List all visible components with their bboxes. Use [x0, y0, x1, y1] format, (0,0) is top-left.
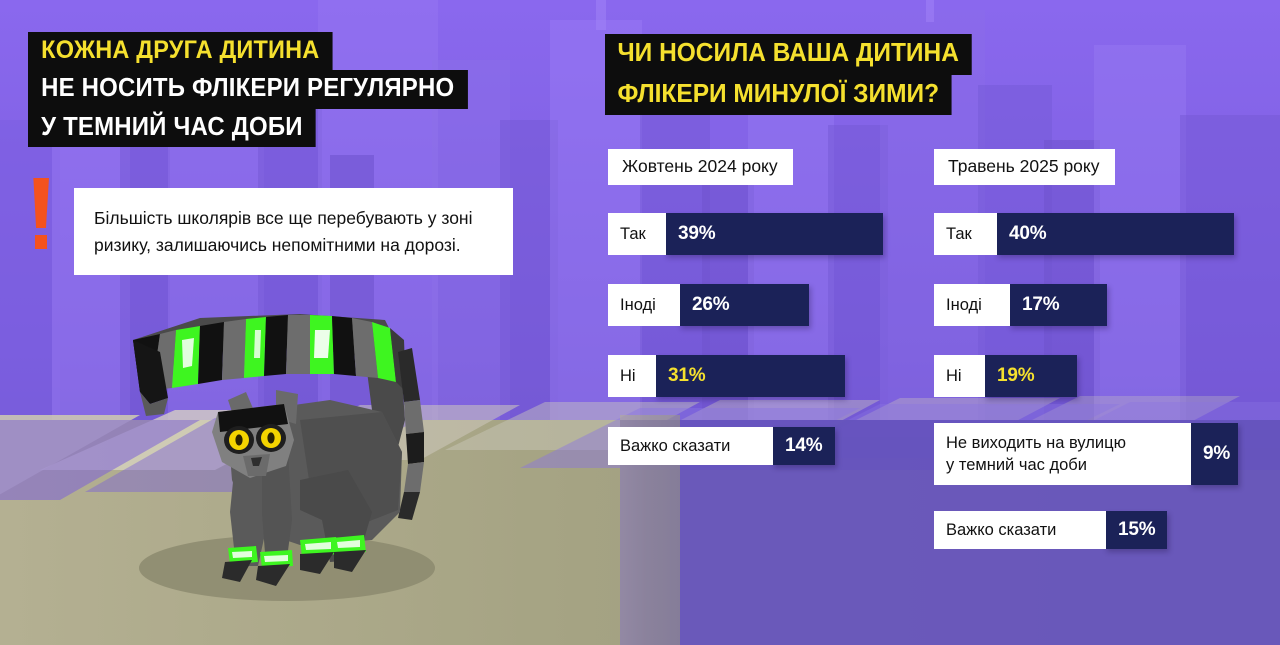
chart-column-october: Жовтень 2024 року Так39%Іноді26%Ні31%Важ…: [608, 149, 883, 465]
chart-row: Не виходить на вулицю у темний час доби9…: [934, 423, 1238, 485]
infographic-canvas: КОЖНА ДРУГА ДИТИНА НЕ НОСИТЬ ФЛІКЕРИ РЕГ…: [0, 0, 1280, 645]
chart-row-bar: 39%: [665, 213, 883, 255]
chart-row-value: 40%: [1009, 223, 1046, 245]
chart-row: Іноді26%: [608, 284, 883, 326]
chart-row-bar: 14%: [772, 427, 835, 465]
headline-line-3: У ТЕМНИЙ ЧАС ДОБИ: [28, 109, 316, 148]
question-line-2: ФЛІКЕРИ МИНУЛОЇ ЗИМИ?: [605, 75, 952, 116]
chart-row-label: Ні: [608, 355, 656, 397]
main-headline: КОЖНА ДРУГА ДИТИНА НЕ НОСИТЬ ФЛІКЕРИ РЕГ…: [28, 32, 496, 147]
exclamation-dot: [35, 235, 47, 249]
headline-line-2: НЕ НОСИТЬ ФЛІКЕРИ РЕГУЛЯРНО: [28, 70, 467, 109]
exclamation-icon: [32, 178, 49, 249]
chart-row: Так40%: [934, 213, 1238, 255]
chart-row-label: Іноді: [934, 284, 1010, 326]
chart-row-value: 26%: [692, 294, 729, 316]
chart-row-bar: 15%: [1105, 511, 1167, 549]
rows-may: Так40%Іноді17%Ні19%Не виходить на вулицю…: [934, 213, 1238, 549]
chart-row-bar: 19%: [984, 355, 1077, 397]
chart-row-label: Важко сказати: [934, 511, 1106, 549]
callout-text: Більшість школярів все ще перебувають у …: [94, 205, 493, 259]
column-title-may: Травень 2025 року: [934, 149, 1115, 185]
question-line-1: ЧИ НОСИЛА ВАША ДИТИНА: [605, 34, 971, 75]
column-title-october: Жовтень 2024 року: [608, 149, 793, 185]
chart-row-value: 9%: [1203, 443, 1230, 465]
chart-row-value: 39%: [678, 223, 715, 245]
rows-october: Так39%Іноді26%Ні31%Важко сказати14%: [608, 213, 883, 465]
chart-row: Важко сказати14%: [608, 427, 883, 465]
chart-row-bar: 17%: [1009, 284, 1107, 326]
question-headline: ЧИ НОСИЛА ВАША ДИТИНА ФЛІКЕРИ МИНУЛОЇ ЗИ…: [605, 34, 987, 115]
chart-row-value: 15%: [1118, 519, 1155, 541]
chart-row-bar: 9%: [1190, 423, 1238, 485]
chart-row-label: Не виходить на вулицю у темний час доби: [934, 423, 1191, 485]
chart-row-value: 14%: [785, 435, 822, 457]
chart-row: Так39%: [608, 213, 883, 255]
chart-column-may: Травень 2025 року Так40%Іноді17%Ні19%Не …: [934, 149, 1238, 549]
callout-box: Більшість школярів все ще перебувають у …: [74, 188, 513, 275]
chart-row: Іноді17%: [934, 284, 1238, 326]
chart-row: Ні19%: [934, 355, 1238, 397]
chart-row-value: 31%: [668, 365, 705, 387]
chart-row-label: Важко сказати: [608, 427, 773, 465]
headline-line-1: КОЖНА ДРУГА ДИТИНА: [28, 32, 333, 70]
chart-row-bar: 40%: [996, 213, 1234, 255]
chart-row-value: 17%: [1022, 294, 1059, 316]
chart-row-label: Ні: [934, 355, 985, 397]
chart-row-label: Іноді: [608, 284, 680, 326]
exclamation-bar: [32, 178, 49, 228]
chart-row: Важко сказати15%: [934, 511, 1238, 549]
chart-row: Ні31%: [608, 355, 883, 397]
chart-row-bar: 26%: [679, 284, 809, 326]
chart-row-label: Так: [934, 213, 997, 255]
chart-row-label: Так: [608, 213, 666, 255]
chart-row-bar: 31%: [655, 355, 845, 397]
chart-row-value: 19%: [997, 365, 1034, 387]
